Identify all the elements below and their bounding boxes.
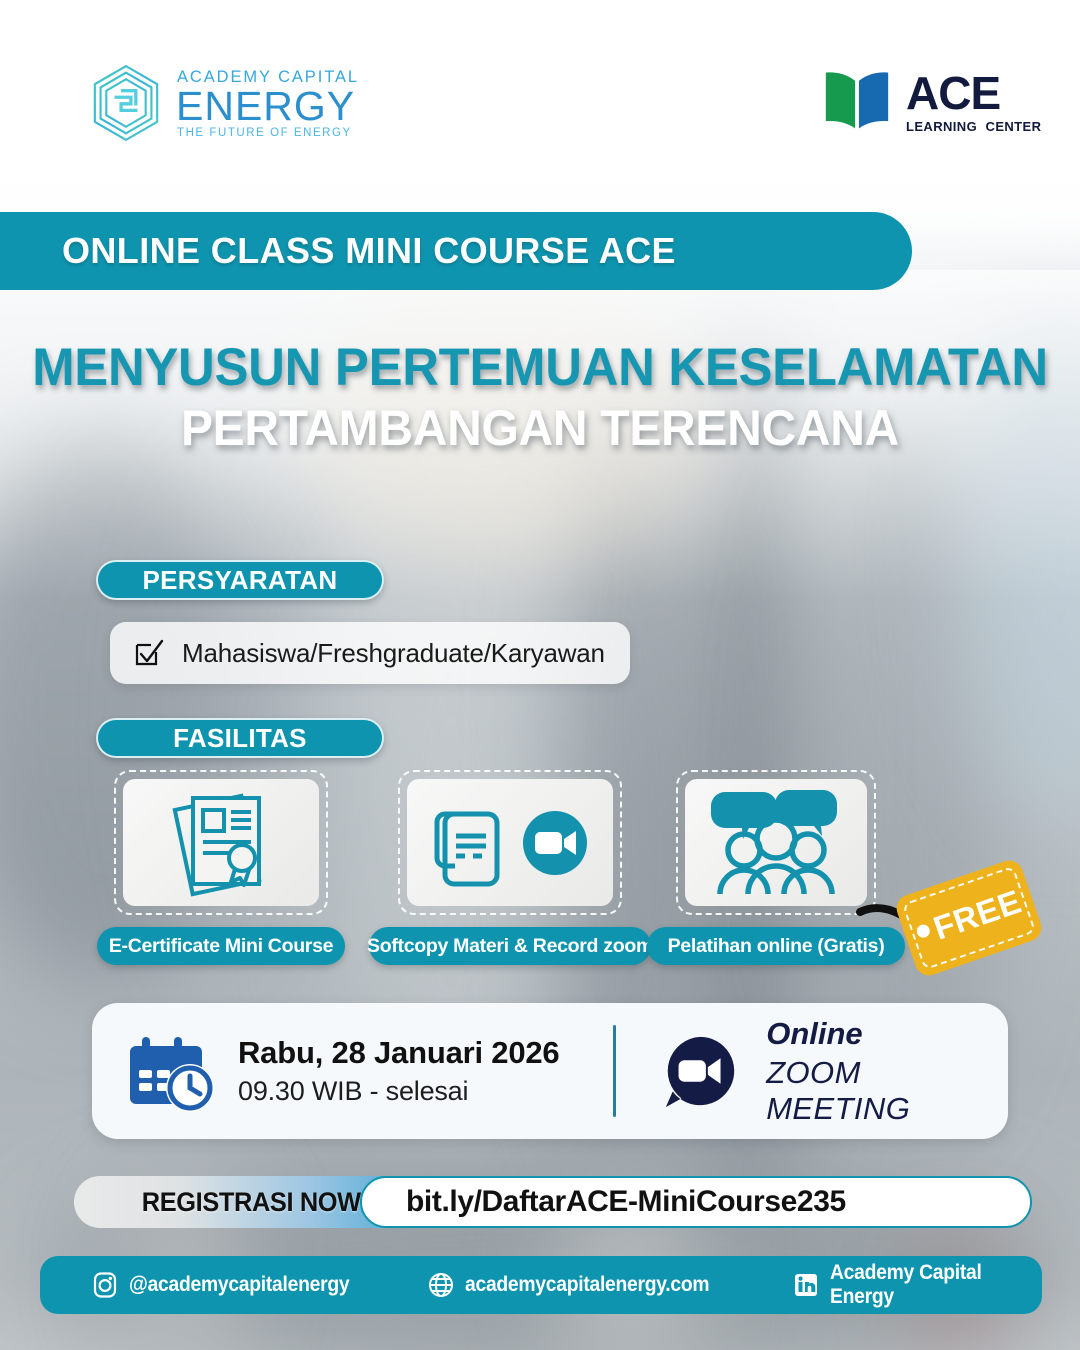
academy-capital-energy-logo: ACADEMY CAPITAL ENERGY THE FUTURE OF ENE… xyxy=(85,62,359,144)
footer-linkedin-name: Academy Capital Energy xyxy=(830,1261,1025,1309)
facility-label: Softcopy Materi & Record zoom xyxy=(369,927,651,965)
ace-subtitle-center: CENTER xyxy=(986,119,1042,134)
group-chat-icon xyxy=(707,782,845,904)
schedule-platform-block: Online ZOOM MEETING xyxy=(616,1016,1008,1127)
facility-card-inner xyxy=(407,779,613,906)
requirements-item: Mahasiswa/Freshgraduate/Karyawan xyxy=(110,622,630,684)
facility-card-frame xyxy=(676,770,876,915)
ace-subtitle-learning: LEARNING xyxy=(906,119,977,134)
headline-line-2: PERTAMBANGAN TERENCANA xyxy=(22,401,1059,456)
footer-website-url: academycapitalenergy.com xyxy=(465,1273,709,1297)
schedule-time: 09.30 WIB - selesai xyxy=(238,1076,559,1107)
logo-tagline-bottom: THE FUTURE OF ENERGY xyxy=(177,128,359,140)
social-footer: @academycapitalenergy academycapitalener… xyxy=(40,1256,1042,1314)
footer-linkedin[interactable]: Academy Capital Energy xyxy=(793,1261,1042,1309)
calendar-clock-icon xyxy=(130,1028,216,1114)
facility-card-inner xyxy=(685,779,867,906)
facility-card-training: Pelatihan online (Gratis) xyxy=(676,770,876,965)
registration-link-box[interactable]: bit.ly/DaftarACE-MiniCourse235 xyxy=(360,1176,1032,1228)
schedule-date: Rabu, 28 Januari 2026 xyxy=(238,1035,559,1071)
video-camera-icon xyxy=(515,803,595,883)
ace-wordmark: ACE xyxy=(906,70,1041,116)
course-type-label: ONLINE CLASS MINI COURSE ACE xyxy=(0,230,676,272)
facility-card-frame xyxy=(398,770,622,915)
documents-video-icon xyxy=(425,788,509,898)
instagram-icon xyxy=(92,1272,118,1298)
facility-card-certificate: E-Certificate Mini Course xyxy=(114,770,328,965)
poster-header: ACADEMY CAPITAL ENERGY THE FUTURE OF ENE… xyxy=(0,0,1080,190)
headline-line-1: MENYUSUN PERTEMUAN KESELAMATAN xyxy=(22,340,1059,397)
registration-url[interactable]: bit.ly/DaftarACE-MiniCourse235 xyxy=(406,1185,846,1219)
requirements-badge: PERSYARATAN xyxy=(96,560,384,600)
platform-name: Online xyxy=(766,1016,1008,1052)
check-square-icon xyxy=(132,636,166,670)
footer-website[interactable]: academycapitalenergy.com xyxy=(428,1272,731,1298)
facility-label: E-Certificate Mini Course xyxy=(97,927,345,965)
facility-card-frame xyxy=(114,770,328,915)
hexagon-maze-icon xyxy=(85,62,167,144)
platform-detail: ZOOM MEETING xyxy=(766,1055,1008,1127)
linkedin-icon xyxy=(793,1272,819,1298)
schedule-panel: Rabu, 28 Januari 2026 09.30 WIB - selesa… xyxy=(92,1003,1008,1139)
registration-cta-label: REGISTRASI NOW! xyxy=(142,1187,386,1218)
footer-instagram[interactable]: @academycapitalenergy xyxy=(92,1272,368,1298)
ace-learning-center-logo: ACE LEARNING CENTER xyxy=(820,68,1041,134)
ace-subtitle: LEARNING CENTER xyxy=(906,120,1041,133)
footer-instagram-handle: @academycapitalenergy xyxy=(129,1273,349,1297)
facility-card-softcopy: Softcopy Materi & Record zoom xyxy=(398,770,622,965)
schedule-date-block: Rabu, 28 Januari 2026 09.30 WIB - selesa… xyxy=(92,1028,613,1114)
facilities-badge: FASILITAS xyxy=(96,718,384,758)
open-book-icon xyxy=(820,68,894,134)
registration-bar[interactable]: REGISTRASI NOW! bit.ly/DaftarACE-MiniCou… xyxy=(74,1176,1032,1228)
course-type-banner: ONLINE CLASS MINI COURSE ACE xyxy=(0,212,912,290)
logo-wordmark: ENERGY xyxy=(176,86,359,127)
page-title: MENYUSUN PERTEMUAN KESELAMATAN PERTAMBAN… xyxy=(0,340,1080,456)
certificate-icon xyxy=(161,784,281,902)
facility-card-inner xyxy=(123,779,319,906)
globe-icon xyxy=(428,1272,454,1298)
video-chat-bubble-icon xyxy=(660,1030,740,1112)
requirements-text: Mahasiswa/Freshgraduate/Karyawan xyxy=(182,638,605,669)
